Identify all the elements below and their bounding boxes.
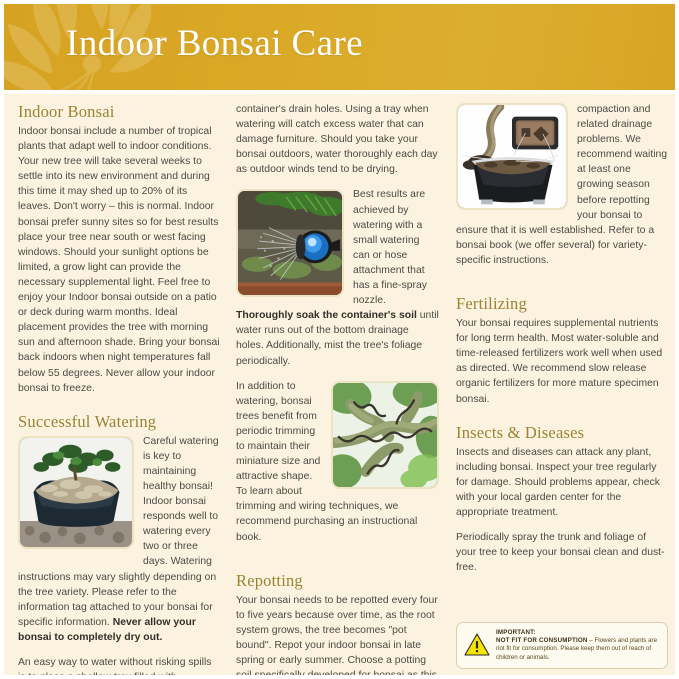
spray-text-lead: Best results are achieved by watering wi… [353,189,427,306]
paragraph-insects-diseases: Insects and diseases can attack any plan… [456,445,669,520]
page-title: Indoor Bonsai Care [66,22,363,65]
warning-bold-consumption: NOT FIT FOR CONSUMPTION [496,637,588,644]
page-header: Indoor Bonsai Care [4,4,675,90]
warning-text: IMPORTANT: NOT FIT FOR CONSUMPTION – Flo… [496,629,659,662]
column-middle: container's drain holes. Using a tray wh… [236,102,439,679]
warning-line-body: NOT FIT FOR CONSUMPTION – Flowers and pl… [496,637,659,662]
warning-box: IMPORTANT: NOT FIT FOR CONSUMPTION – Flo… [456,622,668,669]
paragraph-indoor-bonsai: Indoor bonsai include a number of tropic… [18,124,221,396]
repot-photo-flow-block: compaction and related drainage problems… [456,102,669,278]
column-right: compaction and related drainage problems… [456,102,669,585]
spray-bold-soak: Thoroughly soak the container's soil [236,310,417,321]
content-area: Indoor Bonsai Indoor bonsai include a nu… [4,94,675,679]
section-heading-successful-watering: Successful Watering [18,412,221,432]
paragraph-drain-holes: container's drain holes. Using a tray wh… [236,102,439,177]
section-heading-insects-diseases: Insects & Diseases [456,423,669,443]
section-heading-fertilizing: Fertilizing [456,294,669,314]
paragraph-spray-trunk: Periodically spray the trunk and foliage… [456,530,669,575]
repotting-pot-drainage-photo [456,103,568,210]
bonsai-in-dark-pot-photo [18,436,134,549]
watering-flow-block: Careful watering is key to maintaining h… [18,434,221,655]
section-heading-indoor-bonsai: Indoor Bonsai [18,102,221,122]
bonsai-care-page: Indoor Bonsai Care Indoor Bonsai Indoor … [0,0,679,679]
wiring-flow-block: In addition to watering, bonsai trees be… [236,379,439,555]
bonsai-branch-wiring-photo [331,381,439,489]
paragraph-repotting: Your bonsai needs to be repotted every f… [236,593,439,679]
warning-triangle-icon [464,633,490,656]
section-heading-repotting: Repotting [236,571,439,591]
paragraph-watering-tray: An easy way to water without risking spi… [18,655,221,679]
warning-line-important: IMPORTANT: [496,629,659,637]
column-left: Indoor Bonsai Indoor bonsai include a nu… [18,102,221,679]
watering-can-nozzle-spray-photo [236,189,344,297]
paragraph-fertilizing: Your bonsai requires supplemental nutrie… [456,316,669,407]
spray-flow-block: Best results are achieved by watering wi… [236,187,439,378]
